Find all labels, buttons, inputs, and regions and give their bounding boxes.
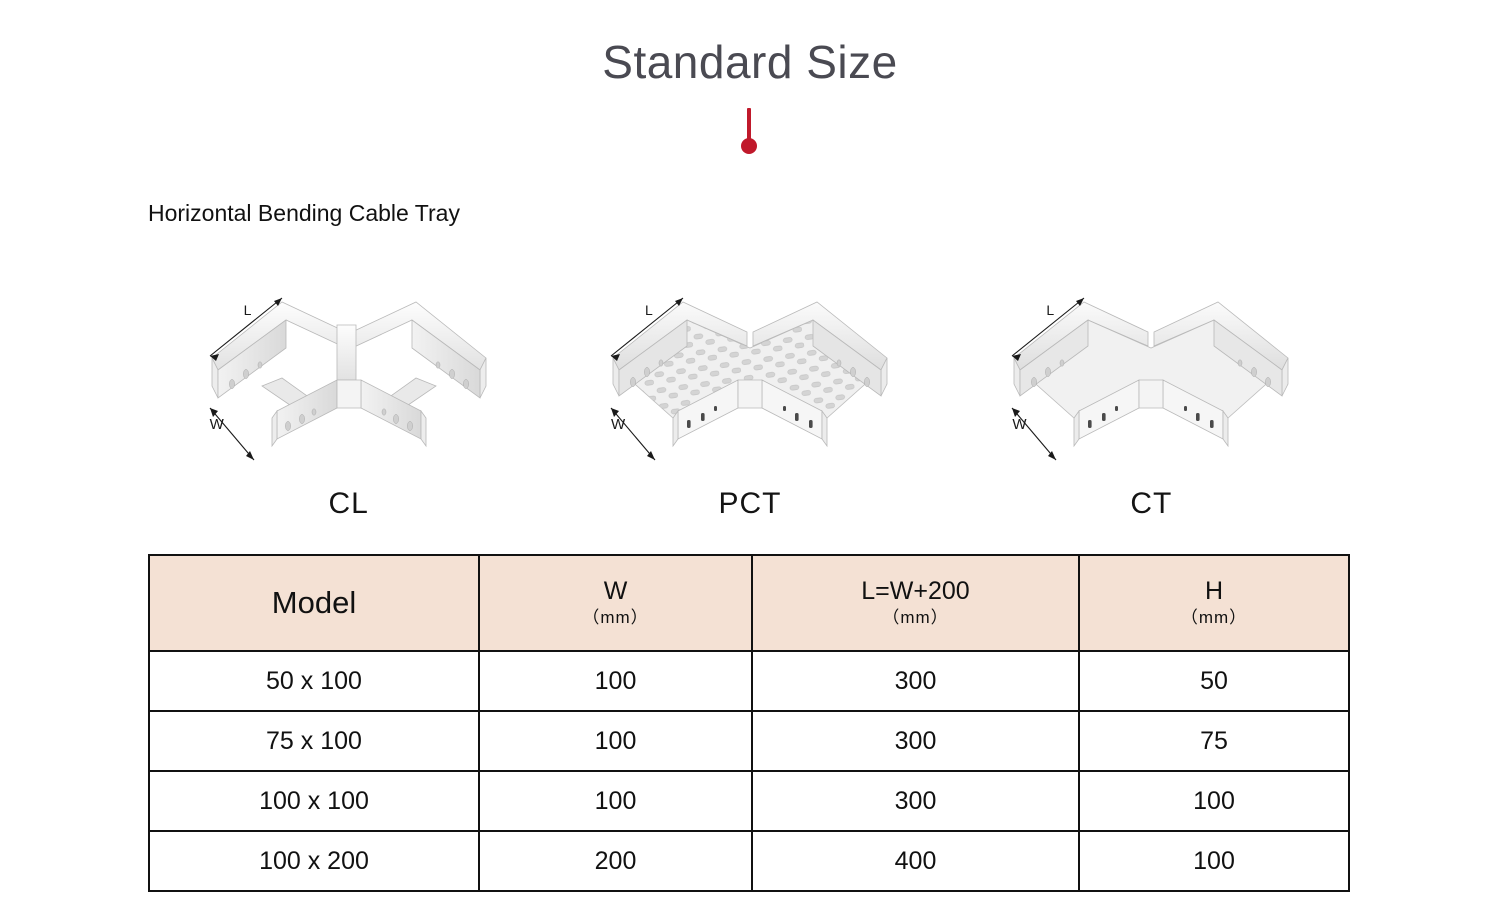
cell-h: 75: [1079, 711, 1349, 771]
cable-tray-solid-icon: L W: [996, 280, 1306, 475]
cell-w: 200: [479, 831, 752, 891]
table-row: 100 x 200 200 400 100: [149, 831, 1349, 891]
product-caption-pct: PCT: [718, 487, 781, 521]
dim-label-l: L: [244, 302, 252, 318]
cell-h: 100: [1079, 831, 1349, 891]
column-header-h: H （mm）: [1079, 555, 1349, 651]
cell-model: 100 x 200: [149, 831, 479, 891]
cable-tray-perforated-icon: L W: [595, 280, 905, 475]
cell-w: 100: [479, 711, 752, 771]
page-title: Standard Size: [0, 34, 1500, 90]
table-row: 75 x 100 100 300 75: [149, 711, 1349, 771]
cell-l: 300: [752, 711, 1079, 771]
product-card-pct: L W PCT: [549, 280, 950, 530]
column-header-l: L=W+200 （mm）: [752, 555, 1079, 651]
product-caption-ct: CT: [1130, 487, 1172, 521]
table-row: 50 x 100 100 300 50: [149, 651, 1349, 711]
cable-tray-ladder-icon: L W: [194, 280, 504, 475]
product-gallery: L W CL: [148, 280, 1352, 530]
page-header: Standard Size: [0, 34, 1500, 90]
column-header-model-text: Model: [272, 585, 356, 620]
cell-l: 300: [752, 651, 1079, 711]
cell-w: 100: [479, 771, 752, 831]
column-header-l-text: L=W+200: [753, 576, 1078, 606]
specifications-table: Model W （mm） L=W+200 （mm） H （mm） 50 x 10…: [148, 554, 1350, 892]
product-caption-cl: CL: [328, 487, 368, 521]
column-header-h-text: H: [1080, 576, 1348, 606]
table-row: 100 x 100 100 300 100: [149, 771, 1349, 831]
column-header-model: Model: [149, 555, 479, 651]
column-header-h-unit: （mm）: [1080, 606, 1348, 630]
dim-label-w: W: [210, 416, 224, 433]
section-label: Horizontal Bending Cable Tray: [148, 200, 460, 227]
cell-model: 100 x 100: [149, 771, 479, 831]
cell-h: 100: [1079, 771, 1349, 831]
column-header-w-text: W: [480, 576, 751, 606]
cell-w: 100: [479, 651, 752, 711]
dim-label-w: W: [1012, 416, 1026, 433]
cell-h: 50: [1079, 651, 1349, 711]
product-card-solid-icon: L W CT: [951, 280, 1352, 530]
table-header-row: Model W （mm） L=W+200 （mm） H （mm）: [149, 555, 1349, 651]
column-header-w: W （mm）: [479, 555, 752, 651]
cell-model: 75 x 100: [149, 711, 479, 771]
cell-model: 50 x 100: [149, 651, 479, 711]
cell-l: 300: [752, 771, 1079, 831]
dim-label-w: W: [611, 416, 625, 433]
column-header-w-unit: （mm）: [480, 606, 751, 630]
dim-label-l: L: [1046, 302, 1054, 318]
dim-label-l: L: [645, 302, 653, 318]
title-accent-dot: [741, 138, 757, 154]
product-card-cl: L W CL: [148, 280, 549, 530]
column-header-l-unit: （mm）: [753, 606, 1078, 630]
cell-l: 400: [752, 831, 1079, 891]
